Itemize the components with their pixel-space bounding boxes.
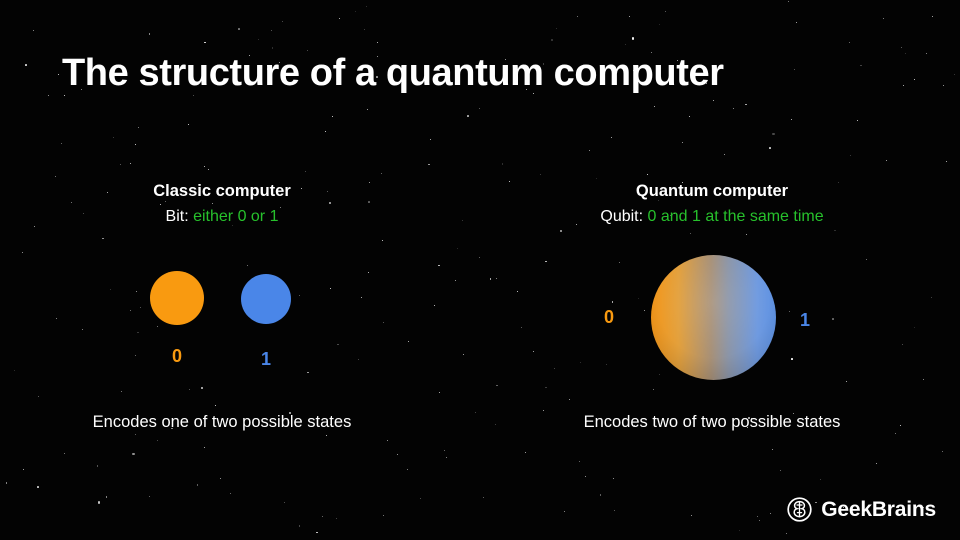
quantum-subline: Qubit: 0 and 1 at the same time — [522, 206, 902, 228]
star-dot — [420, 498, 421, 499]
star-dot — [215, 405, 216, 406]
star-dot — [886, 160, 887, 161]
star-dot — [757, 516, 758, 517]
star-dot — [332, 116, 333, 117]
star-dot — [772, 133, 774, 135]
quantum-heading: Quantum computer — [522, 180, 902, 202]
bit-zero-circle — [150, 271, 204, 325]
star-dot — [336, 518, 337, 519]
star-dot — [611, 137, 612, 138]
star-dot — [569, 399, 570, 400]
star-dot — [463, 354, 465, 356]
star-dot — [397, 454, 398, 455]
star-dot — [316, 532, 318, 534]
star-dot — [665, 11, 666, 12]
brain-logo-icon — [787, 497, 812, 522]
star-dot — [61, 143, 62, 144]
star-dot — [860, 65, 862, 67]
star-dot — [38, 396, 39, 397]
star-dot — [407, 469, 408, 470]
star-dot — [900, 425, 902, 427]
star-dot — [322, 516, 323, 517]
star-dot — [579, 461, 580, 462]
star-dot — [794, 69, 795, 70]
star-dot — [502, 163, 504, 165]
bit-one-label: 1 — [241, 349, 291, 370]
star-dot — [926, 53, 927, 54]
star-dot — [543, 410, 544, 411]
qubit-sphere — [651, 255, 776, 380]
classic-caption: Encodes one of two possible states — [72, 411, 372, 434]
star-dot — [682, 142, 683, 143]
star-dot — [746, 234, 747, 235]
star-dot — [770, 513, 771, 514]
star-dot — [786, 533, 787, 534]
star-dot — [943, 85, 944, 86]
star-dot — [149, 496, 150, 497]
star-dot — [430, 139, 431, 140]
star-dot — [208, 169, 209, 170]
star-dot — [577, 16, 578, 17]
star-dot — [589, 150, 590, 151]
star-dot — [55, 176, 56, 177]
star-dot — [428, 164, 430, 166]
star-dot — [299, 525, 301, 527]
qubit-zero-label: 0 — [604, 307, 614, 328]
star-dot — [560, 230, 562, 232]
star-dot — [307, 50, 308, 51]
page-title: The structure of a quantum computer — [62, 52, 724, 95]
star-dot — [439, 392, 440, 393]
star-dot — [197, 484, 199, 486]
star-dot — [157, 440, 158, 441]
star-dot — [377, 42, 378, 43]
star-dot — [434, 305, 435, 306]
qubit-diagram: 0 1 — [522, 245, 902, 390]
star-dot — [739, 530, 740, 531]
star-dot — [850, 155, 851, 156]
star-dot — [733, 108, 734, 109]
star-dot — [490, 278, 492, 280]
star-dot — [438, 265, 440, 267]
star-dot — [98, 501, 100, 503]
star-dot — [446, 457, 447, 458]
star-dot — [600, 494, 602, 496]
column-quantum-computer: Quantum computer Qubit: 0 and 1 at the s… — [522, 180, 902, 228]
star-dot — [495, 424, 496, 425]
star-dot — [113, 137, 114, 138]
star-dot — [691, 515, 692, 516]
star-dot — [901, 47, 902, 48]
star-dot — [632, 37, 634, 39]
brand-logo: GeekBrains — [787, 497, 936, 522]
star-dot — [33, 30, 34, 31]
qubit-one-label: 1 — [800, 310, 810, 331]
star-dot — [325, 131, 326, 132]
star-dot — [923, 379, 924, 380]
star-dot — [895, 433, 896, 434]
star-dot — [457, 248, 458, 249]
star-dot — [496, 385, 498, 387]
star-dot — [857, 120, 858, 121]
star-dot — [483, 497, 484, 498]
star-dot — [876, 463, 877, 464]
star-dot — [914, 79, 915, 80]
slide-canvas: The structure of a quantum computer Clas… — [0, 0, 960, 540]
star-dot — [355, 11, 356, 12]
star-dot — [690, 233, 691, 234]
star-dot — [475, 412, 476, 413]
star-dot — [383, 515, 384, 516]
star-dot — [189, 389, 190, 390]
star-dot — [387, 440, 388, 441]
star-dot — [759, 520, 761, 522]
star-dot — [367, 109, 368, 110]
column-classic-computer: Classic computer Bit: either 0 or 1 — [32, 180, 412, 228]
star-dot — [467, 115, 469, 117]
star-dot — [120, 164, 121, 165]
quantum-subline-label: Qubit: — [600, 208, 643, 225]
star-dot — [135, 144, 136, 145]
brand-name: GeekBrains — [821, 498, 936, 522]
star-dot — [796, 22, 797, 23]
star-dot — [366, 6, 367, 7]
star-dot — [724, 154, 725, 155]
classic-subline-label: Bit: — [166, 208, 189, 225]
star-dot — [903, 85, 904, 86]
star-dot — [540, 174, 541, 175]
star-dot — [479, 108, 480, 109]
star-dot — [238, 28, 240, 30]
star-dot — [102, 238, 104, 240]
star-dot — [689, 116, 690, 117]
star-dot — [364, 29, 365, 30]
star-dot — [914, 327, 916, 329]
star-dot — [551, 39, 553, 41]
star-dot — [14, 370, 15, 371]
star-dot — [138, 127, 139, 128]
star-dot — [780, 470, 781, 471]
star-dot — [201, 387, 203, 389]
star-dot — [820, 479, 822, 481]
classic-subline: Bit: either 0 or 1 — [32, 206, 412, 228]
star-dot — [496, 278, 497, 279]
star-dot — [64, 453, 65, 454]
star-dot — [6, 482, 8, 484]
star-dot — [932, 16, 933, 17]
star-dot — [271, 30, 272, 31]
star-dot — [132, 453, 134, 455]
star-dot — [204, 42, 206, 44]
star-dot — [849, 42, 850, 43]
star-dot — [230, 493, 231, 494]
star-dot — [455, 280, 456, 281]
star-dot — [647, 174, 648, 175]
star-dot — [37, 486, 39, 488]
star-dot — [48, 95, 49, 96]
star-dot — [188, 124, 189, 125]
star-dot — [883, 18, 884, 19]
star-dot — [556, 28, 557, 29]
star-dot — [25, 64, 27, 66]
classic-subline-value: either 0 or 1 — [193, 208, 278, 225]
star-dot — [22, 252, 23, 253]
star-dot — [745, 104, 747, 106]
classic-bit-diagram: 0 1 — [32, 262, 412, 382]
quantum-caption: Encodes two of two possible states — [562, 411, 862, 434]
star-dot — [130, 163, 131, 164]
star-dot — [613, 478, 614, 479]
star-dot — [525, 452, 526, 453]
star-dot — [305, 171, 306, 172]
star-dot — [282, 21, 283, 22]
star-dot — [659, 24, 660, 25]
star-dot — [509, 181, 510, 182]
classic-heading: Classic computer — [32, 180, 412, 202]
star-dot — [585, 476, 586, 477]
star-dot — [381, 173, 382, 174]
star-dot — [942, 451, 943, 452]
star-dot — [905, 53, 906, 54]
star-dot — [479, 257, 481, 259]
star-dot — [769, 147, 771, 149]
star-dot — [220, 478, 221, 479]
star-dot — [654, 106, 655, 107]
star-dot — [193, 95, 194, 96]
star-dot — [339, 18, 340, 19]
star-dot — [272, 47, 274, 49]
star-dot — [258, 39, 259, 40]
star-dot — [444, 450, 445, 451]
star-dot — [772, 449, 773, 450]
star-dot — [204, 166, 205, 167]
star-dot — [284, 502, 285, 503]
star-dot — [326, 435, 327, 436]
star-dot — [23, 469, 24, 470]
star-dot — [614, 510, 615, 511]
bit-one-circle — [241, 274, 291, 324]
star-dot — [791, 119, 792, 120]
star-dot — [204, 447, 205, 448]
star-dot — [788, 1, 789, 2]
star-dot — [382, 240, 383, 241]
star-dot — [517, 291, 518, 292]
star-dot — [946, 161, 947, 162]
star-dot — [931, 297, 932, 298]
star-dot — [462, 220, 463, 221]
star-dot — [121, 391, 122, 392]
star-dot — [625, 44, 626, 45]
quantum-subline-value: 0 and 1 at the same time — [648, 208, 824, 225]
star-dot — [713, 100, 714, 101]
star-dot — [954, 74, 955, 75]
star-dot — [58, 74, 60, 76]
star-dot — [149, 33, 151, 35]
star-dot — [106, 496, 108, 498]
star-dot — [629, 16, 630, 17]
bit-zero-label: 0 — [150, 346, 204, 367]
star-dot — [97, 465, 99, 467]
star-dot — [564, 511, 565, 512]
star-dot — [834, 230, 836, 232]
